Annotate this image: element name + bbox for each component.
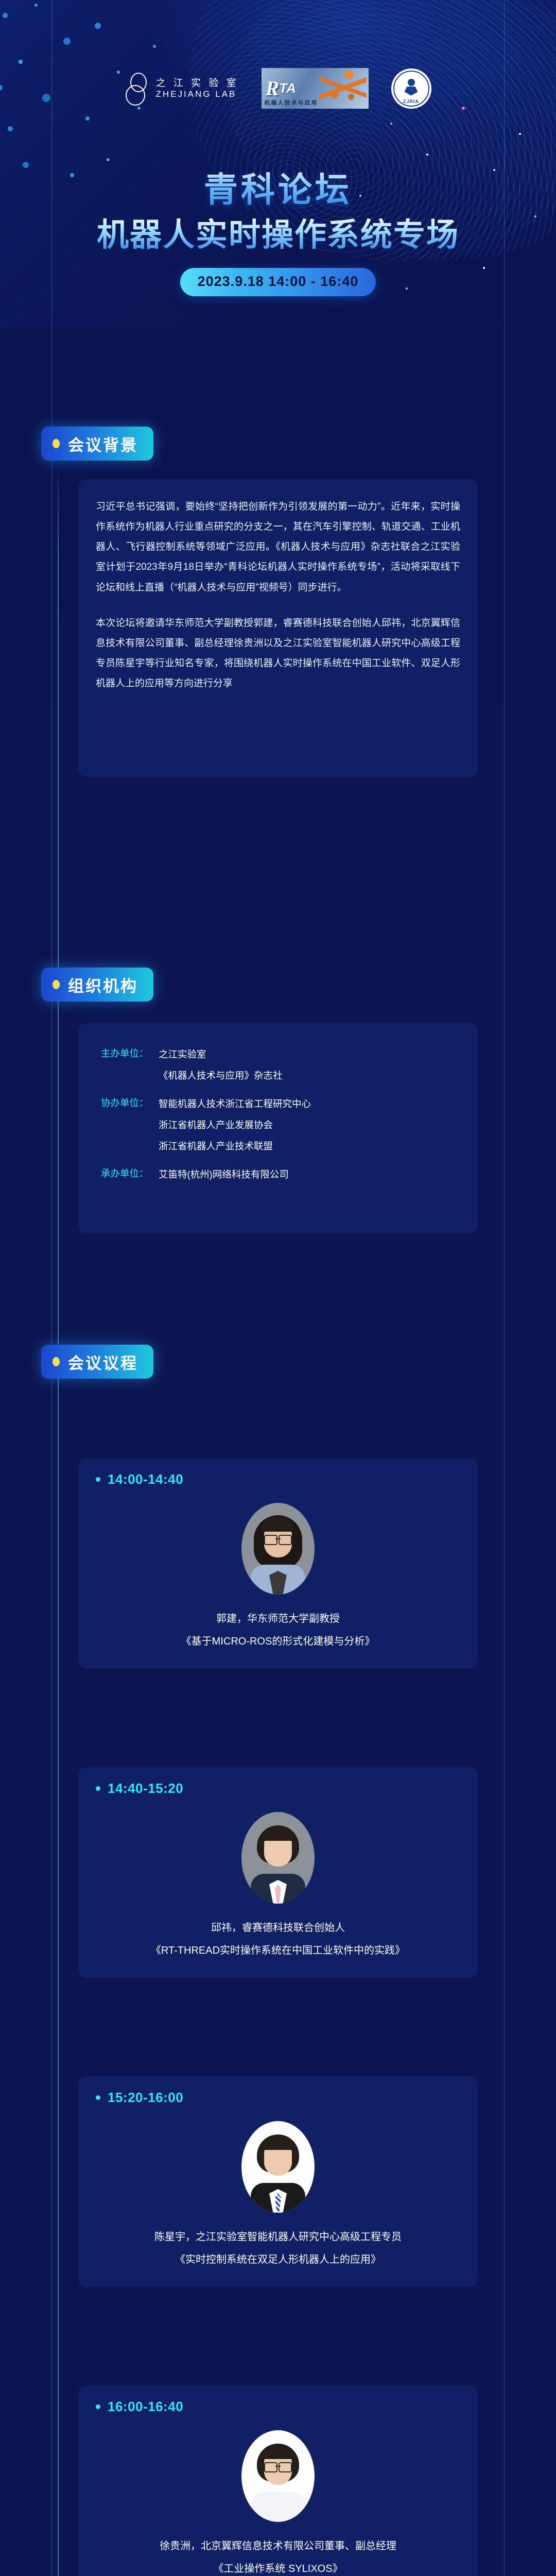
rta-magazine-logo: R TA 机器人技术与应用 bbox=[262, 68, 369, 109]
section-header-background: 会议背景 bbox=[41, 427, 153, 461]
organizers-card: 主办单位： 之江实验室 《机器人技术与应用》杂志社 协办单位： 智能机器人技术浙… bbox=[78, 1023, 478, 1233]
organizer-role-label: 协办单位： bbox=[101, 1093, 159, 1157]
page-title-secondary: 机器人实时操作系统专场 bbox=[0, 216, 556, 255]
time-bullet-icon bbox=[96, 2404, 100, 2409]
organizer-group: 承办单位： 艾笛特(杭州)网络科技有限公司 bbox=[101, 1164, 478, 1185]
right-edge-line bbox=[504, 0, 505, 2576]
organizer-value: 浙江省机器人产业技术联盟 bbox=[159, 1136, 311, 1157]
background-card: 习近平总书记强调，要始终“坚持把创新作为引领发展的第一动力”。近年来，实时操作系… bbox=[78, 479, 478, 777]
rta-mark-letter: R bbox=[266, 76, 280, 100]
zjria-seal-logo: ZJRIA bbox=[391, 69, 431, 109]
organizer-role-label: 承办单位： bbox=[101, 1164, 159, 1185]
bullet-dot-icon bbox=[53, 439, 60, 448]
time-bullet-icon bbox=[96, 2095, 100, 2100]
date-time-badge: 2023.9.18 14:00 - 16:40 bbox=[180, 268, 376, 296]
page-title-primary: 青科论坛 bbox=[0, 170, 556, 210]
agenda-time-row: 14:40-15:20 bbox=[96, 1781, 183, 1797]
section-label-agenda: 会议议程 bbox=[68, 1350, 138, 1374]
title-block: 青科论坛 机器人实时操作系统专场 2023.9.18 14:00 - 16:40 bbox=[0, 170, 556, 296]
rta-mark-letters: TA bbox=[279, 80, 296, 96]
organizer-value: 浙江省机器人产业发展协会 bbox=[159, 1114, 311, 1136]
zhejiang-lab-mark-icon bbox=[125, 73, 150, 105]
organizers-list: 主办单位： 之江实验室 《机器人技术与应用》杂志社 协办单位： 智能机器人技术浙… bbox=[78, 1023, 478, 1213]
speaker-topic: 《RT-THREAD实时操作系统在中国工业软件中的实践》 bbox=[141, 1941, 415, 1960]
organizer-value: 艾笛特(杭州)网络科技有限公司 bbox=[159, 1164, 289, 1185]
bullet-dot-icon bbox=[53, 1357, 60, 1366]
speaker-topic: 《工业操作系统 SYLIXOS》 bbox=[203, 2559, 353, 2576]
agenda-time-row: 16:00-16:40 bbox=[96, 2399, 183, 2415]
speaker-topic: 《基于MICRO-ROS的形式化建模与分析》 bbox=[171, 1632, 386, 1651]
speaker-portrait bbox=[241, 2121, 315, 2213]
zjria-seal-text: ZJRIA bbox=[391, 99, 431, 104]
agenda-item: 14:40-15:20 邱祎，睿赛德科技联合创始人 《RT-THREAD实时操作… bbox=[78, 1767, 478, 1978]
section-label-organizers: 组织机构 bbox=[68, 973, 138, 996]
timeline-spine bbox=[58, 464, 59, 2576]
speaker-portrait bbox=[241, 1812, 315, 1904]
organizer-value: 智能机器人技术浙江省工程研究中心 bbox=[159, 1093, 311, 1114]
agenda-time-row: 15:20-16:00 bbox=[96, 2090, 183, 2106]
organizer-group: 协办单位： 智能机器人技术浙江省工程研究中心 浙江省机器人产业发展协会 浙江省机… bbox=[101, 1093, 478, 1157]
agenda-time: 16:00-16:40 bbox=[108, 2399, 183, 2415]
section-label-background: 会议背景 bbox=[68, 432, 138, 455]
organizer-group: 主办单位： 之江实验室 《机器人技术与应用》杂志社 bbox=[101, 1044, 478, 1086]
organizer-value: 之江实验室 bbox=[159, 1044, 283, 1065]
conference-poster: 之 江 实 验 室 ZHEJIANG LAB R TA 机器人技术与应用 ZJR… bbox=[0, 0, 556, 2576]
agenda-item: 16:00-16:40 徐贵洲，北京翼辉信息技术有限公司董事、副总经理 《工业操… bbox=[78, 2385, 478, 2576]
speaker-name: 徐贵洲，北京翼辉信息技术有限公司董事、副总经理 bbox=[149, 2536, 407, 2556]
agenda-time-row: 14:00-14:40 bbox=[96, 1471, 183, 1487]
rta-subtitle: 机器人技术与应用 bbox=[265, 98, 318, 107]
speaker-name: 郭建，华东师范大学副教授 bbox=[206, 1609, 350, 1629]
time-bullet-icon bbox=[96, 1786, 100, 1791]
logo-row: 之 江 实 验 室 ZHEJIANG LAB R TA 机器人技术与应用 ZJR… bbox=[0, 68, 556, 109]
section-header-organizers: 组织机构 bbox=[41, 968, 153, 1002]
speaker-portrait bbox=[241, 2430, 315, 2522]
agenda-item: 15:20-16:00 陈星宇，之江实验室智能机器人研究中心高级工程专员 《实时… bbox=[78, 2076, 478, 2287]
speaker-name: 邱祎，睿赛德科技联合创始人 bbox=[201, 1918, 355, 1938]
bullet-dot-icon bbox=[53, 980, 60, 989]
left-edge-line bbox=[51, 0, 52, 2576]
agenda-time: 14:00-14:40 bbox=[108, 1471, 183, 1487]
robot-arm-icon bbox=[319, 70, 367, 107]
section-header-agenda: 会议议程 bbox=[41, 1345, 153, 1379]
background-paragraph-1: 习近平总书记强调，要始终“坚持把创新作为引领发展的第一动力”。近年来，实时操作系… bbox=[96, 497, 460, 598]
time-bullet-icon bbox=[96, 1477, 100, 1482]
agenda-item: 14:00-14:40 郭建，华东师范大学副教授 《基于MICRO-ROS的形式… bbox=[78, 1458, 478, 1669]
speaker-topic: 《实时控制系统在双足人形机器人上的应用》 bbox=[165, 2250, 391, 2269]
speaker-portrait bbox=[241, 1503, 315, 1595]
zhejiang-lab-name-en: ZHEJIANG LAB bbox=[155, 89, 238, 100]
zjria-emblem-icon bbox=[404, 79, 419, 98]
zhejiang-lab-name-cn: 之 江 实 验 室 bbox=[155, 77, 238, 89]
agenda-time: 15:20-16:00 bbox=[108, 2090, 183, 2106]
background-paragraph-2: 本次论坛将邀请华东师范大学副教授郭建，睿赛德科技联合创始人邱祎，北京翼辉信息技术… bbox=[96, 613, 460, 694]
zhejiang-lab-logo: 之 江 实 验 室 ZHEJIANG LAB bbox=[125, 73, 238, 105]
speaker-name: 陈星宇，之江实验室智能机器人研究中心高级工程专员 bbox=[144, 2227, 412, 2247]
organizer-value: 《机器人技术与应用》杂志社 bbox=[159, 1065, 283, 1086]
organizer-role-label: 主办单位： bbox=[101, 1044, 159, 1086]
agenda-time: 14:40-15:20 bbox=[108, 1781, 183, 1797]
